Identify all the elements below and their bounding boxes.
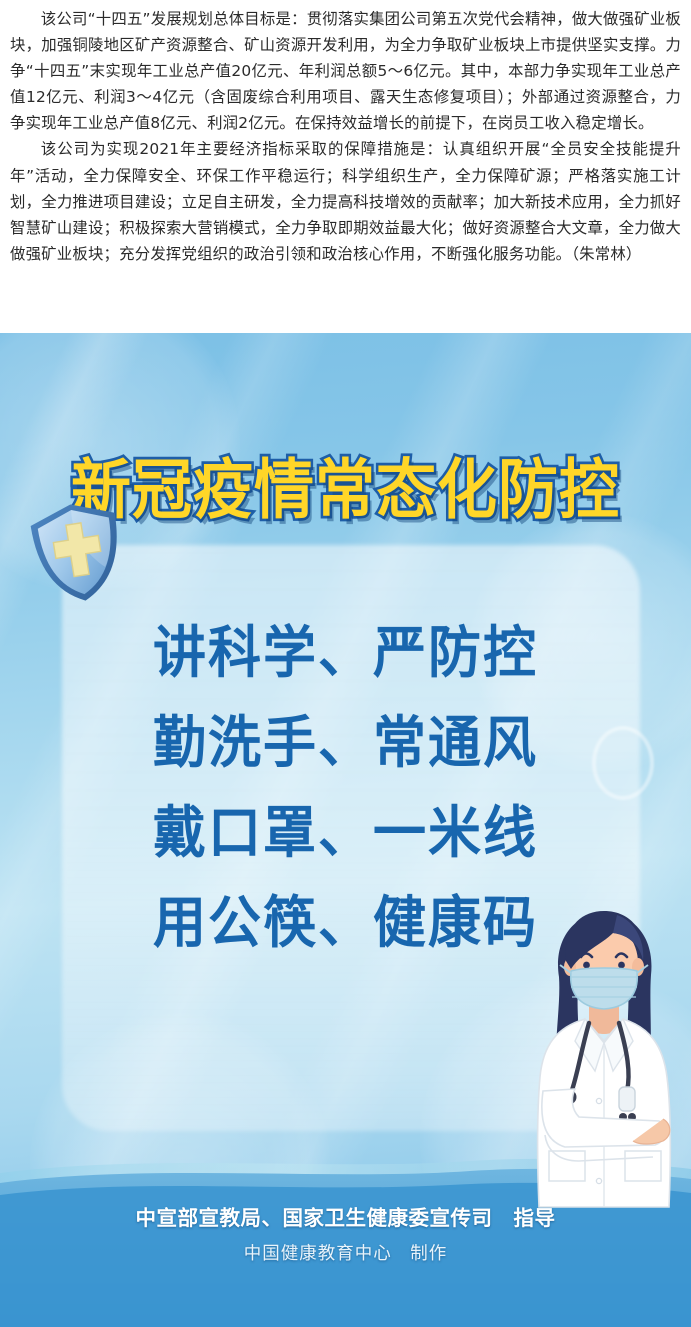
- credit-producer: 中国健康教育中心 制作: [0, 1240, 691, 1265]
- poster-title: 新冠疫情常态化防控: [71, 438, 620, 532]
- slogan-line-1: 讲科学、严防控: [0, 606, 691, 701]
- article-paragraph-2: 该公司为实现2021年主要经济指标采取的保障措施是：认真组织开展“全员安全技能提…: [10, 136, 681, 266]
- slogan-line-2: 勤洗手、常通风: [0, 696, 691, 791]
- covid-prevention-poster: 新冠疫情常态化防控 讲科学、严防控 勤洗手、常通风 戴口罩、一米线 用公筷、健康…: [0, 333, 691, 1327]
- poster-credits: 中宣部宣教局、国家卫生健康委宣传司 指导 中国健康教育中心 制作: [0, 1201, 691, 1265]
- shield-cross-icon: [22, 494, 133, 612]
- slogan-line-3: 戴口罩、一米线: [0, 786, 691, 881]
- article-paragraph-1: 该公司“十四五”发展规划总体目标是：贯彻落实集团公司第五次党代会精神，做大做强矿…: [10, 6, 681, 136]
- article-text-block: 该公司“十四五”发展规划总体目标是：贯彻落实集团公司第五次党代会精神，做大做强矿…: [0, 0, 691, 333]
- credit-guidance: 中宣部宣教局、国家卫生健康委宣传司 指导: [0, 1201, 691, 1231]
- doctor-illustration: [513, 895, 691, 1215]
